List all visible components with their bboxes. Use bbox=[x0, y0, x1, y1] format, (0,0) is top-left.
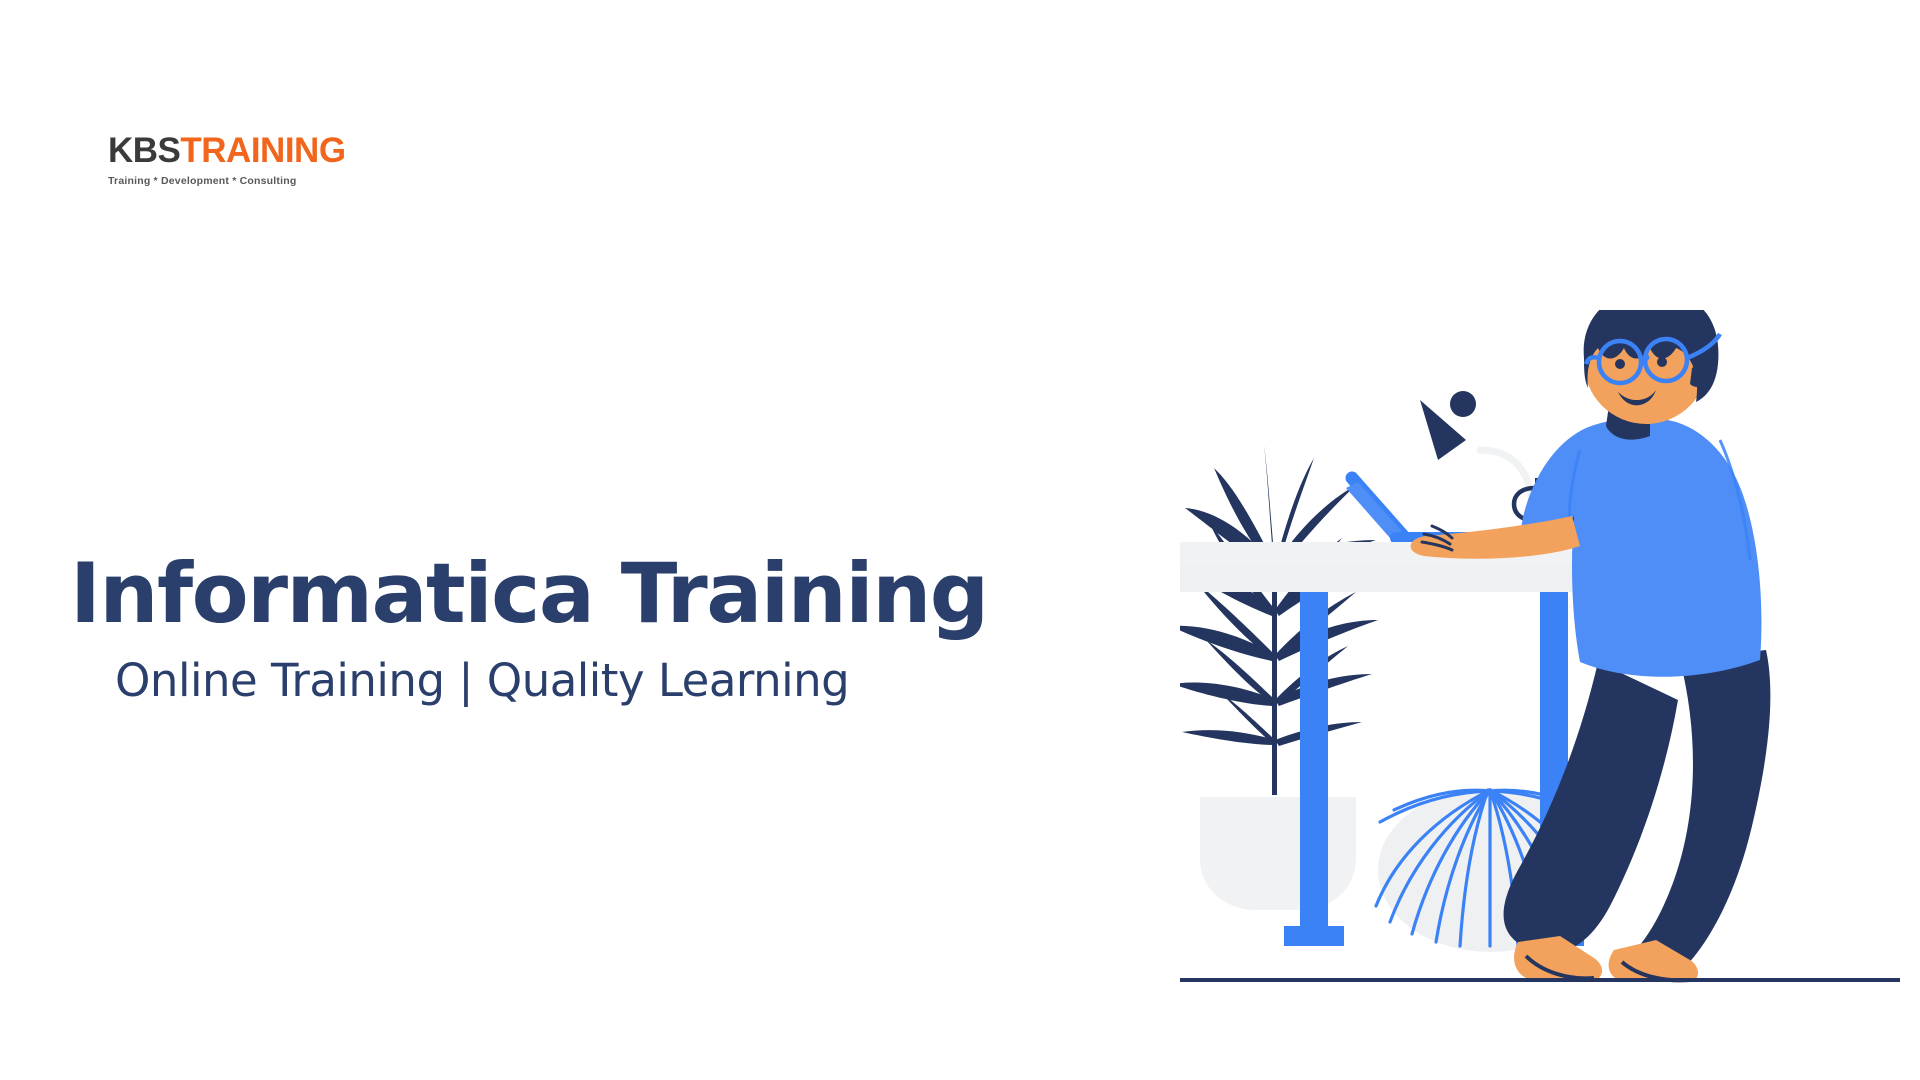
plant-pot bbox=[1200, 797, 1356, 910]
floor-line bbox=[1180, 978, 1900, 982]
logo-tagline: Training * Development * Consulting bbox=[108, 175, 408, 187]
hero-text-block: Informatica Training Online Training | Q… bbox=[70, 552, 1110, 704]
logo-wordmark: KBSTRAINING bbox=[108, 133, 408, 168]
page-title: Informatica Training bbox=[70, 552, 1110, 635]
hero-illustration bbox=[1180, 310, 1900, 1010]
brand-logo[interactable]: KBSTRAINING Training * Development * Con… bbox=[108, 133, 408, 187]
page-subtitle: Online Training | Quality Learning bbox=[70, 657, 1110, 704]
logo-text-training: TRAINING bbox=[180, 131, 345, 170]
palm-plant bbox=[1180, 445, 1378, 795]
foot-back bbox=[1514, 936, 1602, 980]
logo-text-kbs: KBS bbox=[108, 131, 180, 170]
slide-canvas: KBSTRAINING Training * Development * Con… bbox=[0, 0, 1920, 1080]
